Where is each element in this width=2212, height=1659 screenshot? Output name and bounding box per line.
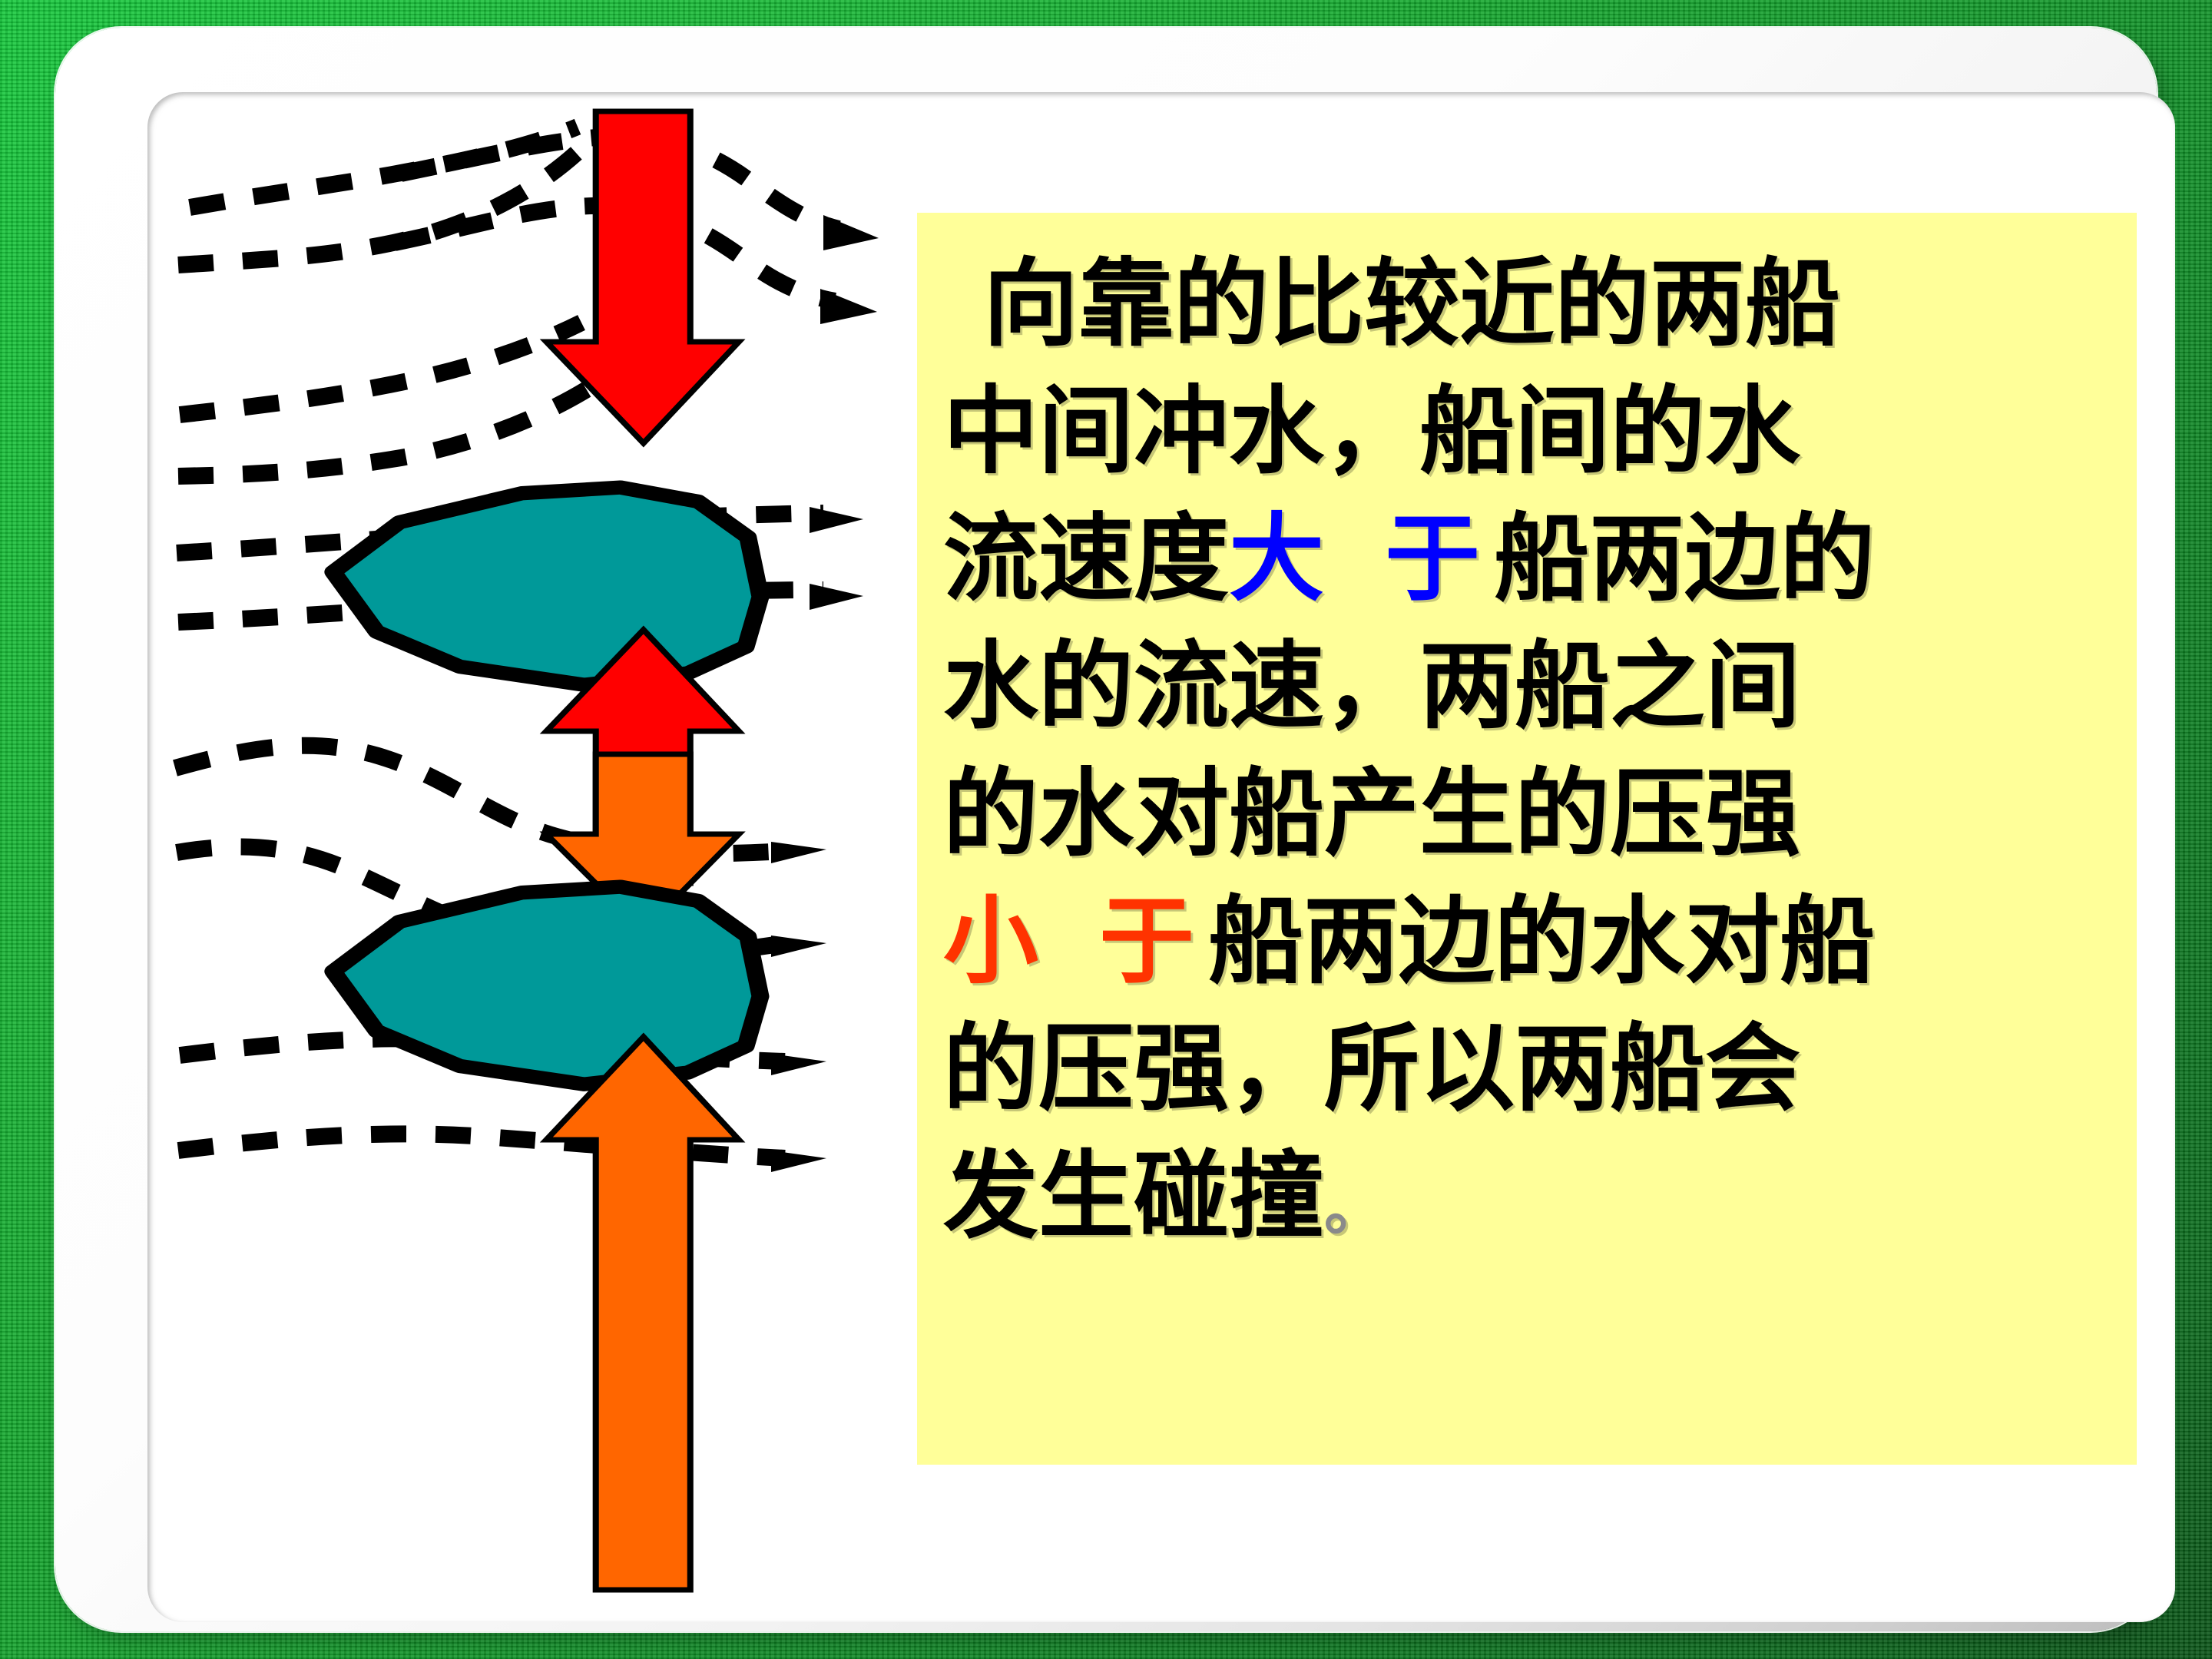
text-segment: 船两边的 bbox=[1494, 503, 1875, 614]
emphasis-less-than: 小 于 bbox=[943, 886, 1208, 997]
text-line-1: 向靠的比较近的两船 bbox=[917, 213, 2137, 368]
text-segment: 水的流速，两船之间 bbox=[943, 631, 1800, 742]
text-segment: 流速度 bbox=[943, 503, 1229, 614]
emphasis-greater-than: 大 于 bbox=[1229, 503, 1494, 614]
slide-canvas: 向靠的比较近的两船中间冲水，船间的水流速度大 于船两边的水的流速，两船之间的水对… bbox=[0, 0, 2212, 1659]
explanation-text-panel: 向靠的比较近的两船中间冲水，船间的水流速度大 于船两边的水的流速，两船之间的水对… bbox=[917, 213, 2137, 1465]
text-segment: 发生碰撞 bbox=[943, 1141, 1324, 1252]
slide-frame-inner: 向靠的比较近的两船中间冲水，船间的水流速度大 于船两边的水的流速，两船之间的水对… bbox=[147, 92, 2175, 1622]
arrowhead-icon bbox=[771, 842, 826, 863]
slide-frame-outer: 向靠的比较近的两船中间冲水，船间的水流速度大 于船两边的水的流速，两船之间的水对… bbox=[55, 28, 2157, 1631]
text-segment: 的水对船产生的压强 bbox=[943, 758, 1800, 869]
streamline-5 bbox=[180, 323, 581, 415]
orange-up-arrow-icon bbox=[546, 1037, 739, 1590]
text-line-7: 的压强，所以两船会 bbox=[917, 1005, 2137, 1133]
streamline-6 bbox=[178, 386, 593, 476]
arrowhead-icon bbox=[771, 1151, 826, 1172]
arrowhead-icon bbox=[771, 935, 826, 957]
text-line-5: 的水对船产生的压强 bbox=[917, 750, 2137, 878]
bottom-boat-group bbox=[333, 754, 760, 1590]
text-segment: 向靠的比较近的两船 bbox=[983, 248, 1840, 359]
arrowhead-icon bbox=[810, 584, 863, 610]
text-segment: 的压强，所以两船会 bbox=[943, 1013, 1800, 1124]
text-line-8: 发生碰撞。 bbox=[917, 1133, 2137, 1273]
text-line-4: 水的流速，两船之间 bbox=[917, 623, 2137, 750]
text-segment: 中间冲水，船间的水 bbox=[943, 376, 1800, 487]
fluid-flow-diagram bbox=[147, 92, 992, 1622]
boat-hull-top bbox=[333, 488, 760, 685]
arrowhead-icon bbox=[771, 1054, 826, 1075]
sentence-period: 。 bbox=[1324, 1174, 1384, 1243]
arrowhead-icon bbox=[820, 289, 877, 324]
boat-hull-bottom bbox=[333, 887, 760, 1084]
streamline-arrowheads bbox=[771, 215, 879, 1172]
explanation-text-lines: 向靠的比较近的两船中间冲水，船间的水流速度大 于船两边的水的流速，两船之间的水对… bbox=[917, 213, 2137, 1273]
arrowhead-icon bbox=[810, 507, 863, 533]
text-line-6: 小 于船两边的水对船 bbox=[917, 878, 2137, 1005]
text-segment: 船两边的水对船 bbox=[1208, 886, 1875, 997]
text-line-3: 流速度大 于船两边的 bbox=[917, 495, 2137, 623]
arrowhead-icon bbox=[823, 215, 879, 250]
streamline-2 bbox=[178, 152, 578, 265]
text-line-2: 中间冲水，船间的水 bbox=[917, 368, 2137, 495]
